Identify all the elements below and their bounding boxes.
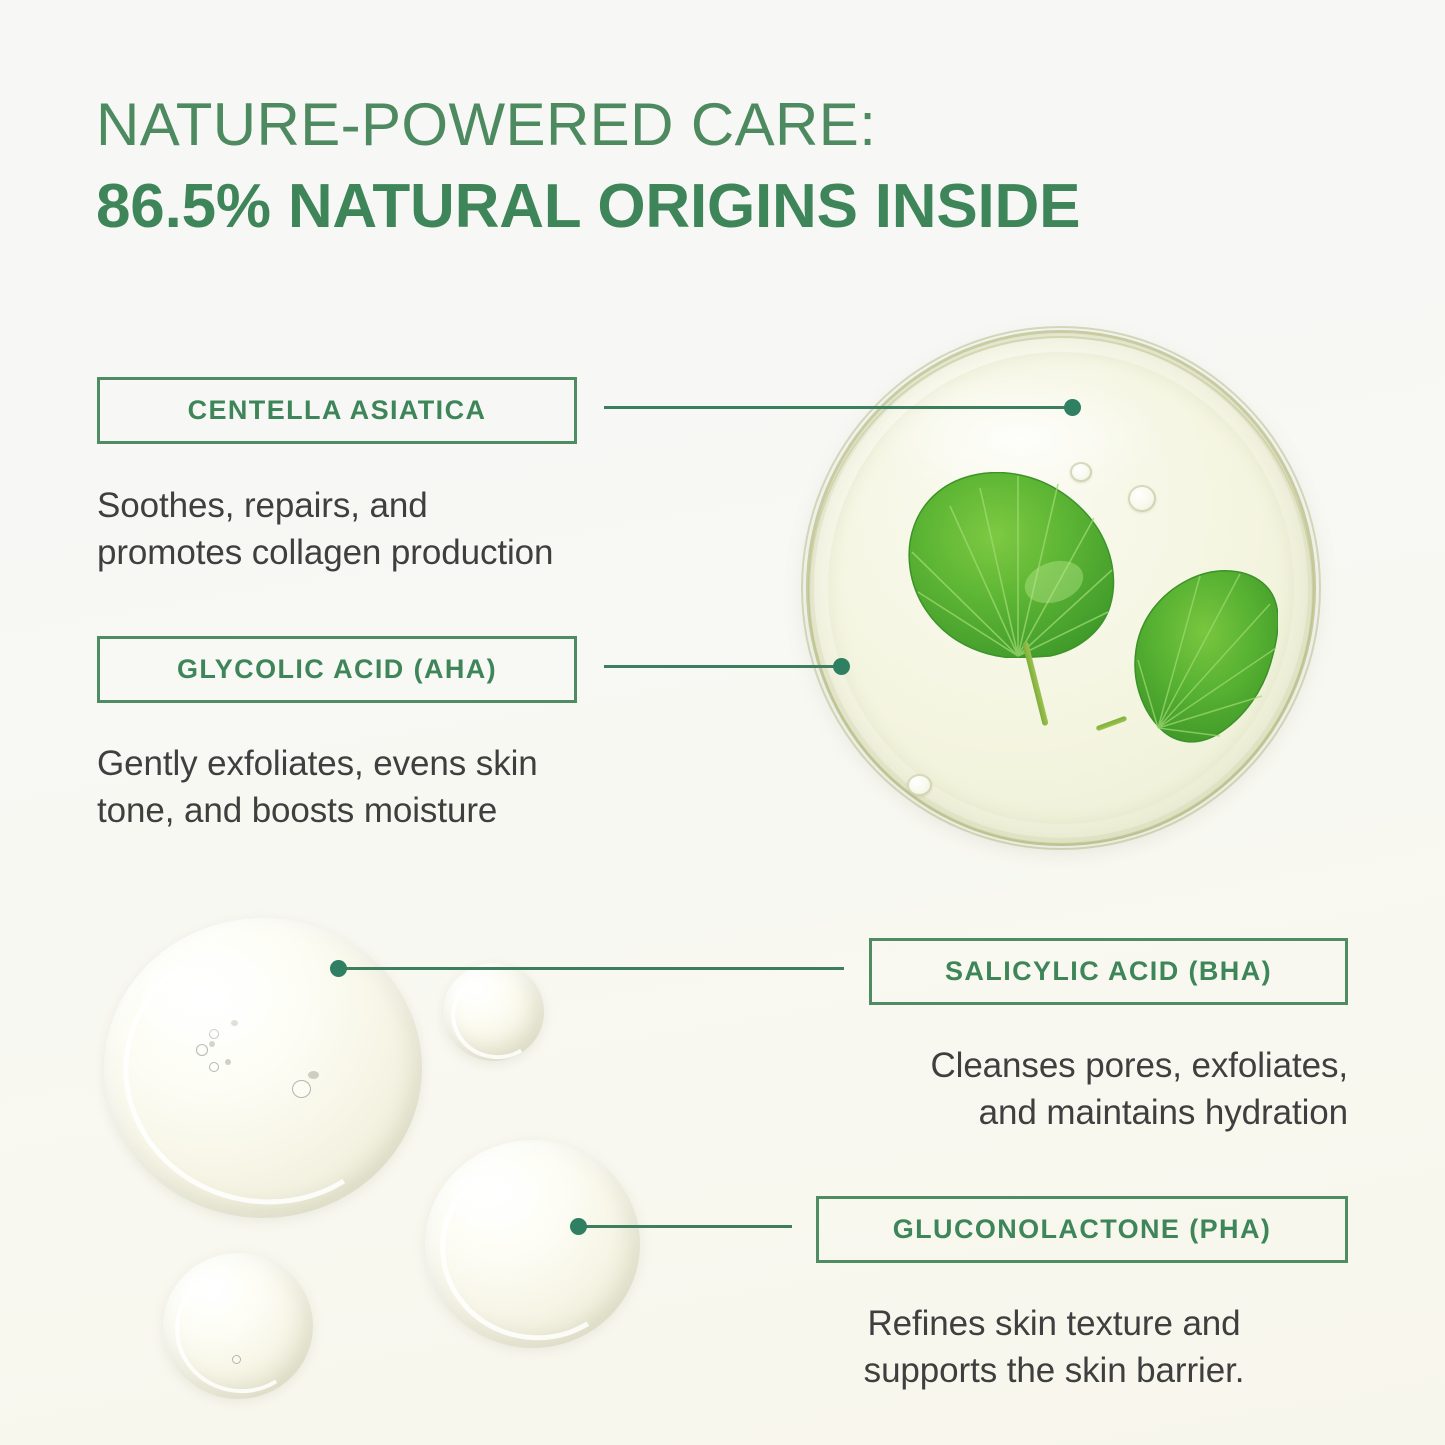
droplet-highlight-arc: [163, 1255, 317, 1404]
ingredient-description-salicylic-acid: Cleanses pores, exfoliates, and maintain…: [700, 1042, 1348, 1136]
droplet-micro-bubble: [196, 1044, 208, 1056]
connector-dot-centella: [1064, 399, 1081, 416]
connector-line-gluconolactone: [584, 1225, 792, 1228]
droplet-micro-bubble: [209, 1029, 219, 1039]
droplet-micro-dot: [308, 1071, 319, 1079]
description-line: Gently exfoliates, evens skin: [97, 740, 737, 787]
ingredient-label-text: GLUCONOLACTONE (PHA): [893, 1214, 1272, 1245]
description-line: supports the skin barrier.: [760, 1347, 1348, 1394]
ingredient-description-glycolic-acid: Gently exfoliates, evens skin tone, and …: [97, 740, 737, 834]
title-line-2: 86.5% NATURAL ORIGINS INSIDE: [96, 172, 1276, 242]
description-line: tone, and boosts moisture: [97, 787, 737, 834]
connector-dot-glycolic: [833, 658, 850, 675]
ingredient-label-centella-asiatica[interactable]: CENTELLA ASIATICA: [97, 377, 577, 444]
droplet-micro-bubble: [292, 1080, 311, 1098]
cream-bubble: [907, 774, 932, 796]
connector-line-glycolic: [604, 665, 844, 668]
droplet-micro-dot: [225, 1059, 231, 1065]
ingredient-description-gluconolactone: Refines skin texture and supports the sk…: [760, 1300, 1348, 1394]
ingredient-label-text: CENTELLA ASIATICA: [188, 395, 487, 426]
droplet-micro-dot: [231, 1020, 238, 1026]
connector-dot-gluconolactone: [570, 1218, 587, 1235]
description-line: promotes collagen production: [97, 529, 737, 576]
droplet-micro-bubble: [232, 1355, 241, 1364]
ingredient-description-centella-asiatica: Soothes, repairs, and promotes collagen …: [97, 482, 737, 576]
ingredient-label-gluconolactone[interactable]: GLUCONOLACTONE (PHA): [816, 1196, 1348, 1263]
connector-line-salicylic: [344, 967, 844, 970]
description-line: Soothes, repairs, and: [97, 482, 737, 529]
title-line-1: NATURE-POWERED CARE:: [96, 92, 1276, 158]
droplet-highlight-arc: [443, 964, 550, 1067]
droplet-micro-bubble: [209, 1062, 219, 1072]
droplet-highlight-arc: [423, 1141, 647, 1357]
connector-line-centella: [604, 406, 1074, 409]
description-line: Cleanses pores, exfoliates,: [700, 1042, 1348, 1089]
droplet-highlight-arc: [99, 915, 431, 1230]
droplet-small-top: [443, 963, 544, 1061]
droplet-large: [104, 918, 422, 1218]
infographic-canvas: NATURE-POWERED CARE: 86.5% NATURAL ORIGI…: [0, 0, 1445, 1445]
connector-dot-salicylic: [330, 960, 347, 977]
droplet-micro-dot: [209, 1041, 215, 1047]
description-line: and maintains hydration: [700, 1089, 1348, 1136]
droplet-medium: [425, 1140, 640, 1348]
centella-leaf-small: [1128, 568, 1278, 750]
description-line: Refines skin texture and: [760, 1300, 1348, 1347]
ingredient-label-glycolic-acid[interactable]: GLYCOLIC ACID (AHA): [97, 636, 577, 703]
ingredient-label-text: SALICYLIC ACID (BHA): [945, 956, 1272, 987]
ingredient-label-text: GLYCOLIC ACID (AHA): [177, 654, 497, 685]
ingredient-label-salicylic-acid[interactable]: SALICYLIC ACID (BHA): [869, 938, 1348, 1005]
page-title: NATURE-POWERED CARE: 86.5% NATURAL ORIGI…: [96, 92, 1276, 242]
droplet-small-bottom: [163, 1253, 313, 1399]
centella-leaf-large: [902, 472, 1134, 658]
